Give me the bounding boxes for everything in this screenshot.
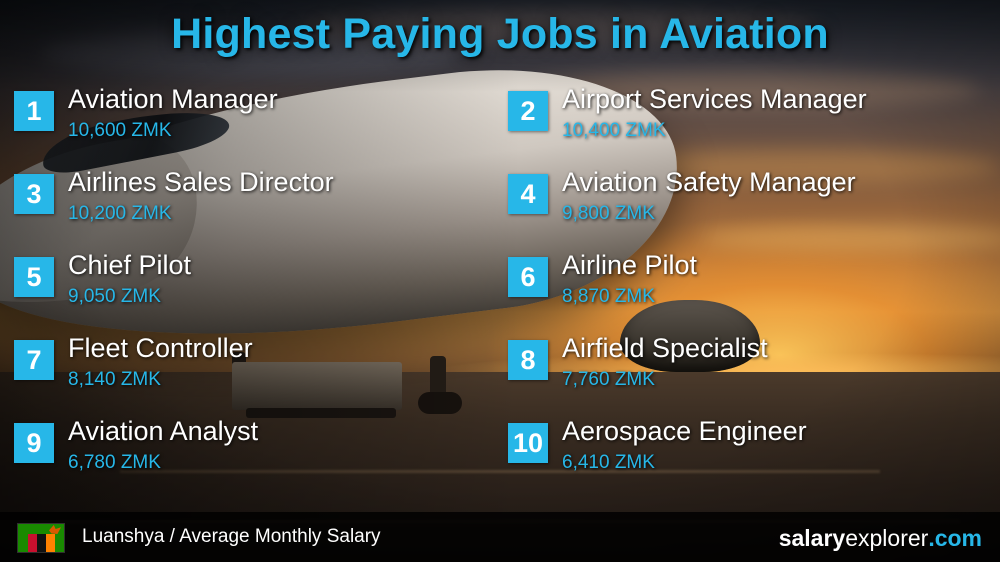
job-salary-8: 7,760 ZMK <box>562 369 655 391</box>
rank-badge-9: 9 <box>14 423 54 463</box>
job-salary-4: 9,800 ZMK <box>562 203 655 225</box>
content-layer: Highest Paying Jobs in Aviation 1 Aviati… <box>0 0 1000 562</box>
flag-stripe-green <box>55 534 64 552</box>
job-salary-3: 10,200 ZMK <box>68 203 172 225</box>
job-item-1[interactable]: 1 Aviation Manager 10,600 ZMK <box>14 86 494 169</box>
job-item-6[interactable]: 6 Airline Pilot 8,870 ZMK <box>508 252 988 335</box>
zambia-flag-icon <box>18 524 64 552</box>
job-item-10[interactable]: 10 Aerospace Engineer 6,410 ZMK <box>508 418 988 501</box>
job-title-6: Airline Pilot <box>562 250 697 281</box>
job-title-5: Chief Pilot <box>68 250 191 281</box>
job-row-4: 7 Fleet Controller 8,140 ZMK 8 Airfield … <box>0 335 1000 418</box>
job-item-2[interactable]: 2 Airport Services Manager 10,400 ZMK <box>508 86 988 169</box>
job-salary-10: 6,410 ZMK <box>562 452 655 474</box>
brand-part-explorer: explorer <box>845 525 928 551</box>
job-salary-5: 9,050 ZMK <box>68 286 161 308</box>
footer-location-label: Luanshya / Average Monthly Salary <box>82 526 381 548</box>
job-item-4[interactable]: 4 Aviation Safety Manager 9,800 ZMK <box>508 169 988 252</box>
job-salary-7: 8,140 ZMK <box>68 369 161 391</box>
flag-eagle-shape <box>49 525 61 534</box>
job-title-7: Fleet Controller <box>68 333 253 364</box>
rank-badge-2: 2 <box>508 91 548 131</box>
rank-badge-3: 3 <box>14 174 54 214</box>
flag-stripe-orange <box>46 534 55 552</box>
job-title-10: Aerospace Engineer <box>562 416 807 447</box>
rank-badge-1: 1 <box>14 91 54 131</box>
job-salary-6: 8,870 ZMK <box>562 286 655 308</box>
job-salary-2: 10,400 ZMK <box>562 120 666 142</box>
page-title: Highest Paying Jobs in Aviation <box>0 10 1000 59</box>
job-item-5[interactable]: 5 Chief Pilot 9,050 ZMK <box>14 252 494 335</box>
footer-bar: Luanshya / Average Monthly Salary salary… <box>0 512 1000 562</box>
job-title-3: Airlines Sales Director <box>68 167 334 198</box>
rank-badge-10: 10 <box>508 423 548 463</box>
job-list: 1 Aviation Manager 10,600 ZMK 2 Airport … <box>0 86 1000 501</box>
job-item-9[interactable]: 9 Aviation Analyst 6,780 ZMK <box>14 418 494 501</box>
rank-badge-8: 8 <box>508 340 548 380</box>
job-salary-1: 10,600 ZMK <box>68 120 172 142</box>
brand-part-salary: salary <box>779 525 846 551</box>
job-title-8: Airfield Specialist <box>562 333 768 364</box>
rank-badge-5: 5 <box>14 257 54 297</box>
flag-stripe-black <box>37 534 46 552</box>
site-brand[interactable]: salaryexplorer.com <box>779 525 982 552</box>
job-item-7[interactable]: 7 Fleet Controller 8,140 ZMK <box>14 335 494 418</box>
job-title-9: Aviation Analyst <box>68 416 258 447</box>
job-item-3[interactable]: 3 Airlines Sales Director 10,200 ZMK <box>14 169 494 252</box>
job-row-2: 3 Airlines Sales Director 10,200 ZMK 4 A… <box>0 169 1000 252</box>
rank-badge-6: 6 <box>508 257 548 297</box>
job-title-1: Aviation Manager <box>68 84 278 115</box>
job-title-4: Aviation Safety Manager <box>562 167 856 198</box>
rank-badge-4: 4 <box>508 174 548 214</box>
job-row-3: 5 Chief Pilot 9,050 ZMK 6 Airline Pilot … <box>0 252 1000 335</box>
rank-badge-7: 7 <box>14 340 54 380</box>
job-salary-9: 6,780 ZMK <box>68 452 161 474</box>
job-title-2: Airport Services Manager <box>562 84 867 115</box>
job-row-5: 9 Aviation Analyst 6,780 ZMK 10 Aerospac… <box>0 418 1000 501</box>
job-item-8[interactable]: 8 Airfield Specialist 7,760 ZMK <box>508 335 988 418</box>
infographic-root: Highest Paying Jobs in Aviation 1 Aviati… <box>0 0 1000 562</box>
brand-part-domain: .com <box>928 525 982 551</box>
job-row-1: 1 Aviation Manager 10,600 ZMK 2 Airport … <box>0 86 1000 169</box>
flag-stripe-red <box>28 534 37 552</box>
